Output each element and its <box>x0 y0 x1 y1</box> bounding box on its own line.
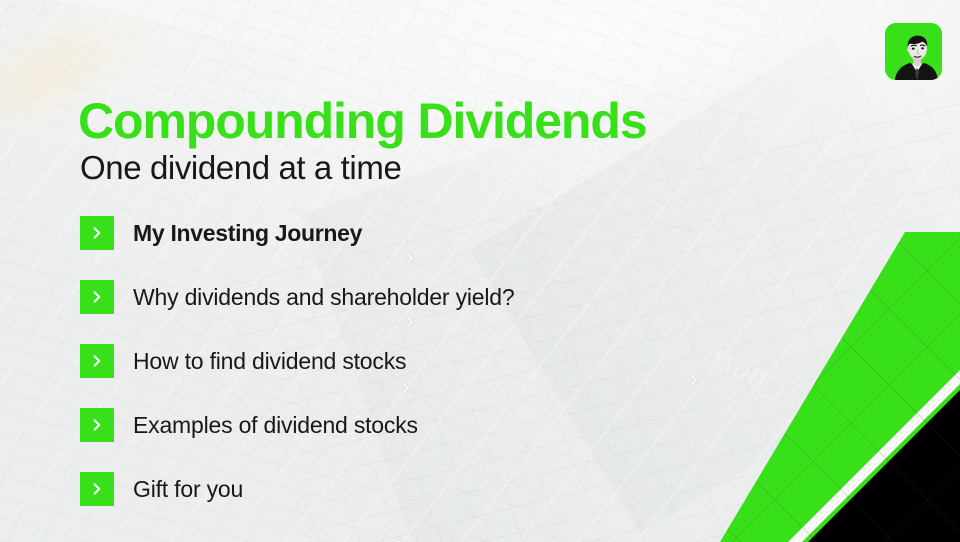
agenda-item-why-dividends-and-shareholder-yield[interactable]: Why dividends and shareholder yield? <box>80 280 780 314</box>
agenda-list: My Investing Journey Why dividends and s… <box>80 216 780 506</box>
chevron-right-icon <box>80 216 114 250</box>
agenda-item-label: Gift for you <box>133 476 243 503</box>
agenda-item-my-investing-journey[interactable]: My Investing Journey <box>80 216 780 250</box>
chevron-right-icon <box>80 344 114 378</box>
agenda-item-examples-of-dividend-stocks[interactable]: Examples of dividend stocks <box>80 408 780 442</box>
agenda-item-label: Examples of dividend stocks <box>133 412 418 439</box>
avatar <box>885 23 942 80</box>
agenda-item-label: How to find dividend stocks <box>133 348 406 375</box>
agenda-item-gift-for-you[interactable]: Gift for you <box>80 472 780 506</box>
presentation-slide: › › › › Canva <box>0 0 960 542</box>
page-title: Compounding Dividends <box>78 95 647 148</box>
agenda-item-label: My Investing Journey <box>133 220 362 247</box>
chevron-right-icon <box>80 280 114 314</box>
page-subtitle: One dividend at a time <box>80 150 401 186</box>
agenda-item-how-to-find-dividend-stocks[interactable]: How to find dividend stocks <box>80 344 780 378</box>
chevron-right-icon <box>80 408 114 442</box>
agenda-item-label: Why dividends and shareholder yield? <box>133 284 514 311</box>
chevron-right-icon <box>80 472 114 506</box>
